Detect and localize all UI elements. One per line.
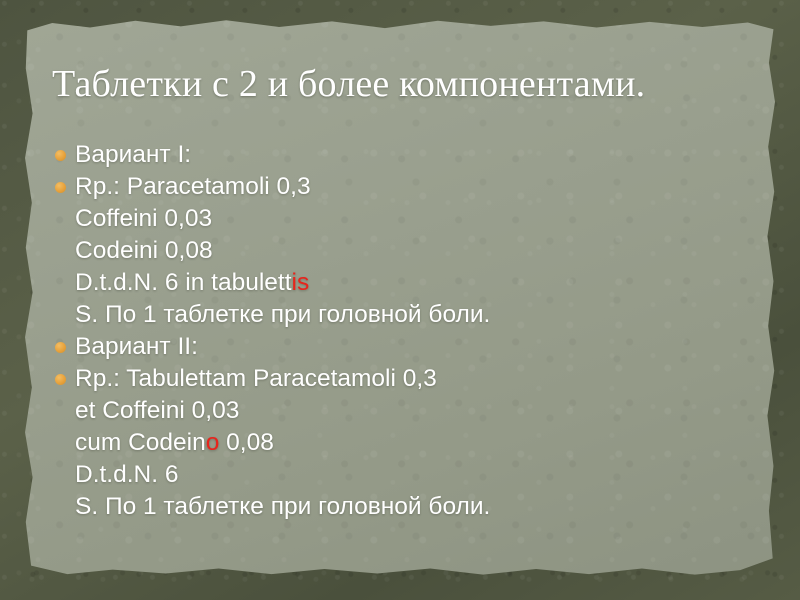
line-text: Rp.: Paracetamoli 0,3 bbox=[75, 173, 311, 200]
highlighted-ending: o bbox=[206, 429, 220, 456]
highlighted-ending: is bbox=[292, 269, 310, 296]
line-text: Вариант II: bbox=[75, 333, 198, 360]
continuation-line: D.t.d.N. 6 in tabulettis bbox=[52, 267, 752, 299]
line-text: S. По 1 таблетке при головной боли. bbox=[75, 493, 490, 520]
line-text: D.t.d.N. 6 bbox=[75, 461, 178, 488]
line-text: S. По 1 таблетке при головной боли. bbox=[75, 301, 490, 328]
bullet-list-item: Rp.: Paracetamoli 0,3 bbox=[52, 171, 752, 203]
line-text: D.t.d.N. 6 in tabulett bbox=[75, 269, 292, 296]
line-text: Coffeini 0,03 bbox=[75, 205, 212, 232]
continuation-line: S. По 1 таблетке при головной боли. bbox=[52, 299, 752, 331]
presentation-slide: Таблетки с 2 и более компонентами. Вариа… bbox=[0, 0, 800, 600]
bullet-dot-icon bbox=[55, 182, 66, 193]
continuation-line: Codeini 0,08 bbox=[52, 235, 752, 267]
line-text: et Coffeini 0,03 bbox=[75, 397, 239, 424]
continuation-line: et Coffeini 0,03 bbox=[52, 395, 752, 427]
bullet-dot-icon bbox=[55, 150, 66, 161]
continuation-line: S. По 1 таблетке при головной боли. bbox=[52, 491, 752, 523]
line-text-after: 0,08 bbox=[219, 429, 274, 456]
line-text: Вариант I: bbox=[75, 141, 191, 168]
bullet-list-item: Вариант II: bbox=[52, 331, 752, 363]
bullet-list-item: Вариант I: bbox=[52, 139, 752, 171]
continuation-line: D.t.d.N. 6 bbox=[52, 459, 752, 491]
continuation-line: cum Codeino 0,08 bbox=[52, 427, 752, 459]
slide-body-list: Вариант I:Rp.: Paracetamoli 0,3Coffeini … bbox=[52, 139, 752, 523]
bullet-dot-icon bbox=[55, 374, 66, 385]
continuation-line: Coffeini 0,03 bbox=[52, 203, 752, 235]
line-text: Rp.: Tabulettam Paracetamoli 0,3 bbox=[75, 365, 437, 392]
slide-title: Таблетки с 2 и более компонентами. bbox=[52, 62, 752, 106]
bullet-dot-icon bbox=[55, 342, 66, 353]
line-text: Codeini 0,08 bbox=[75, 237, 213, 264]
bullet-list-item: Rp.: Tabulettam Paracetamoli 0,3 bbox=[52, 363, 752, 395]
line-text: cum Codein bbox=[75, 429, 206, 456]
